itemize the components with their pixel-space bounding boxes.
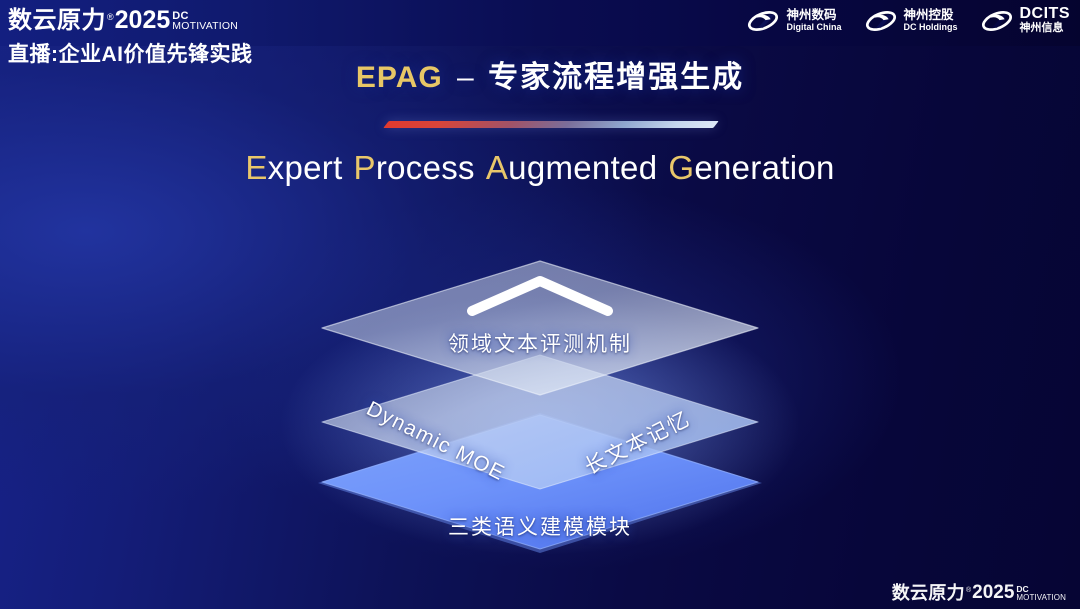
brand-registered-mark: ® bbox=[107, 13, 114, 22]
logo-line2: Digital China bbox=[786, 22, 841, 33]
brand-dc-motivation: DC MOTIVATION bbox=[172, 11, 238, 32]
watermark-name-cn: 数云原力 bbox=[892, 584, 965, 602]
subtitle-word-augmented: Augmented bbox=[486, 149, 658, 186]
swoosh-icon bbox=[980, 8, 1014, 34]
logo-line1: DCITS bbox=[1020, 6, 1071, 22]
subtitle-rest: xpert bbox=[268, 149, 343, 186]
watermark-dc-label: DC bbox=[1016, 585, 1066, 593]
swoosh-icon bbox=[746, 8, 780, 34]
logo-digital-china: 神州数码 Digital China bbox=[746, 8, 841, 34]
subtitle-rest: ugmented bbox=[508, 149, 657, 186]
subtitle-rest: rocess bbox=[376, 149, 475, 186]
logo-text-block: 神州控股 DC Holdings bbox=[904, 8, 958, 33]
brand-name-cn: 数云原力 bbox=[8, 9, 106, 33]
logo-text-block: 神州数码 Digital China bbox=[786, 8, 841, 33]
logo-line1: 神州数码 bbox=[786, 8, 841, 22]
logo-dc-holdings: 神州控股 DC Holdings bbox=[864, 8, 958, 34]
subtitle-word-process: Process bbox=[354, 149, 475, 186]
subtitle-cap: P bbox=[354, 149, 376, 186]
layered-architecture-diagram: 领域文本评测机制 Dynamic MOE 长文本记忆 三类语义建模模块 bbox=[270, 215, 810, 585]
title-divider-bar bbox=[383, 121, 718, 128]
logo-line1: 神州控股 bbox=[904, 8, 958, 22]
subtitle-cap: A bbox=[486, 149, 508, 186]
watermark-year: 2025 bbox=[972, 583, 1014, 602]
logo-text-block: DCITS 神州信息 bbox=[1020, 6, 1071, 35]
logo-line2: DC Holdings bbox=[904, 22, 958, 33]
page-subtitle: ExpertProcessAugmentedGeneration bbox=[0, 149, 1080, 187]
watermark-motivation-label: MOTIVATION bbox=[1016, 593, 1066, 602]
footer-watermark: 数云原力 ® 2025 DC MOTIVATION bbox=[892, 583, 1066, 602]
subtitle-rest: eneration bbox=[694, 149, 834, 186]
title-acronym: EPAG bbox=[356, 61, 443, 94]
page-title: EPAG – 专家流程增强生成 bbox=[0, 52, 1080, 96]
title-dash: – bbox=[457, 61, 474, 94]
logo-dcits: DCITS 神州信息 bbox=[980, 6, 1071, 35]
partner-logo-group: 神州数码 Digital China 神州控股 DC Holdings bbox=[746, 6, 1070, 35]
slide-canvas: 数云原力 ® 2025 DC MOTIVATION 直播:企业AI价值先锋实践 … bbox=[0, 0, 1080, 609]
subtitle-cap: E bbox=[245, 149, 267, 186]
brand-motivation-label: MOTIVATION bbox=[172, 21, 238, 32]
title-chinese: 专家流程增强生成 bbox=[488, 61, 744, 94]
stack-svg bbox=[270, 215, 810, 585]
subtitle-word-expert: Expert bbox=[245, 149, 342, 186]
swoosh-icon bbox=[864, 8, 898, 34]
logo-line2: 神州信息 bbox=[1020, 22, 1071, 35]
brand-year: 2025 bbox=[115, 8, 171, 33]
subtitle-cap: G bbox=[668, 149, 694, 186]
brand-lockup: 数云原力 ® 2025 DC MOTIVATION bbox=[8, 3, 338, 33]
subtitle-word-generation: Generation bbox=[668, 149, 834, 186]
watermark-dc-motivation: DC MOTIVATION bbox=[1016, 585, 1066, 602]
watermark-registered-mark: ® bbox=[966, 587, 971, 594]
